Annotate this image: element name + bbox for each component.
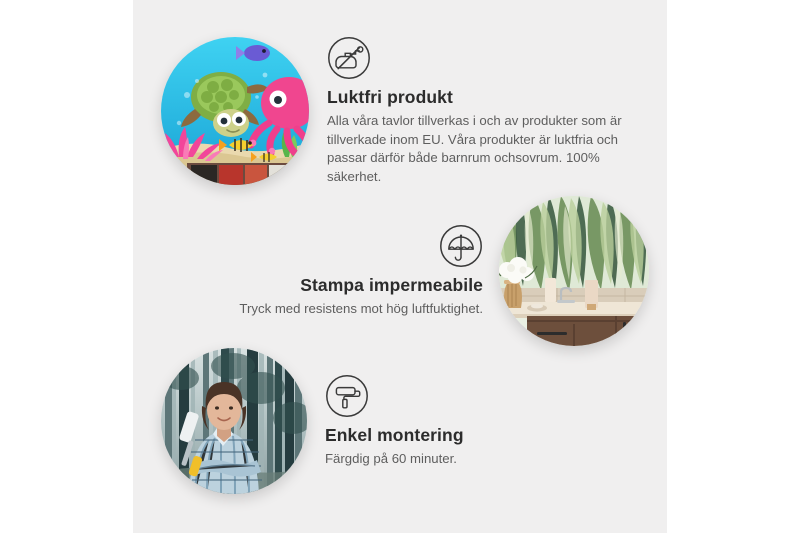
feature-heading: Enkel montering [325,425,464,446]
feature-body: Färgdig på 60 minuter. [325,450,464,469]
promo-stage: Luktfri produkt Alla våra tavlor tillver… [133,0,667,533]
feature-text-odorless: Luktfri produkt Alla våra tavlor tillver… [327,36,627,187]
paint-roller-icon [325,374,369,418]
umbrella-icon [439,224,483,268]
no-spray-bottle-icon [327,36,371,80]
feature-heading: Luktfri produkt [327,87,627,108]
feature-text-easy-install: Enkel montering Färgdig på 60 minuter. [325,374,464,469]
feature-heading: Stampa impermeabile [143,275,483,296]
feature-text-waterproof: Stampa impermeabile Tryck med resistens … [143,224,483,319]
forest-mural-photo [161,348,307,494]
underwater-illustration [161,37,309,185]
feature-row-easy-install: Enkel montering Färgdig på 60 minuter. [161,348,661,494]
feature-body: Tryck med resistens mot hög luftfuktighe… [143,300,483,319]
promo-page: Luktfri produkt Alla våra tavlor tillver… [0,0,800,533]
bathroom-photo [499,196,649,346]
feature-row-waterproof: Stampa impermeabile Tryck med resistens … [143,196,663,346]
underwater-cartoon-circle-image [161,37,309,185]
woman-with-paint-roller-circle-image [161,348,307,494]
bathroom-vanity-circle-image [499,196,649,346]
feature-body: Alla våra tavlor tillverkas i och av pro… [327,112,627,187]
feature-row-odorless: Luktfri produkt Alla våra tavlor tillver… [161,36,661,187]
